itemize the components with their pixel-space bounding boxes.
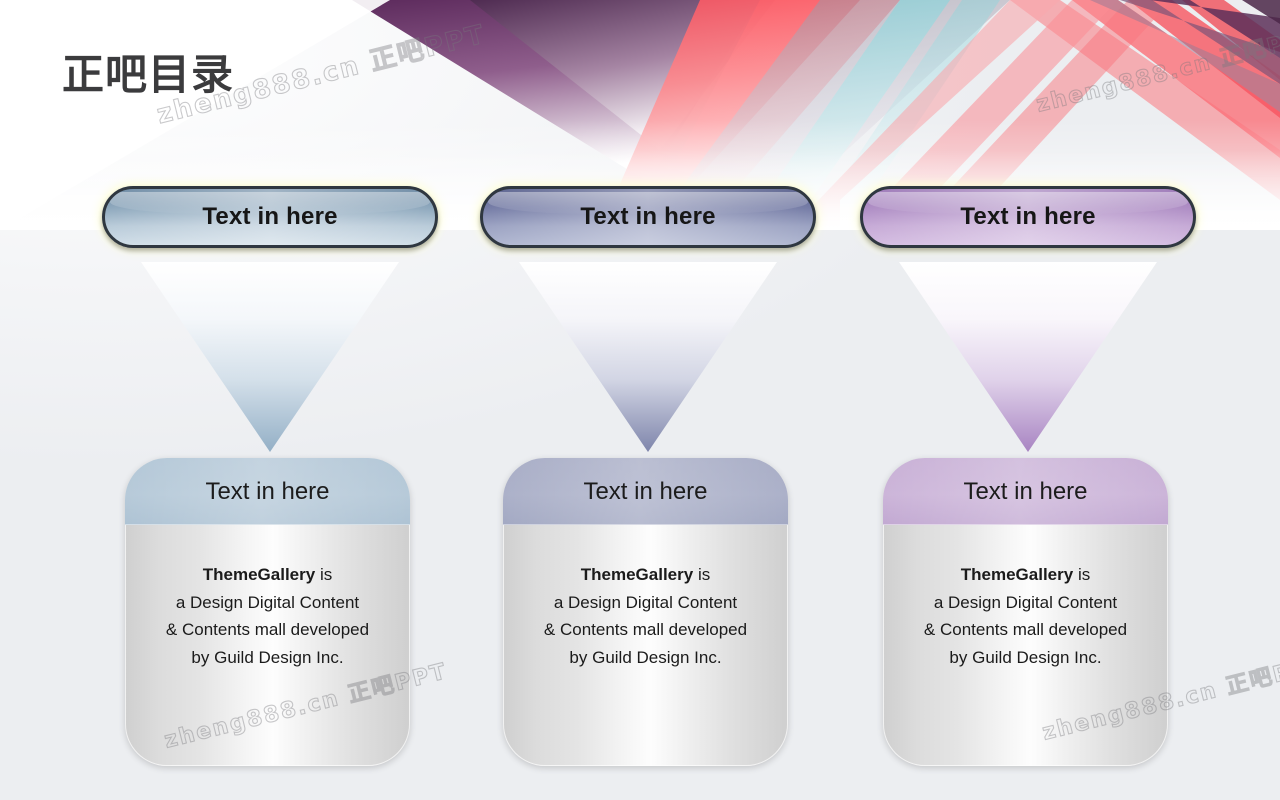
body-line: a Design Digital Content — [883, 589, 1168, 617]
body-line: ThemeGallery is — [883, 561, 1168, 589]
body-line: by Guild Design Inc. — [883, 644, 1168, 672]
presentation-slide: 正吧目录 Text in here Text in here — [0, 0, 1280, 800]
step-pill-button-1[interactable]: Text in here — [102, 186, 438, 248]
body-line: & Contents mall developed — [503, 616, 788, 644]
step-pill-label: Text in here — [960, 203, 1095, 231]
diagram-column: Text in here Text in here — [858, 0, 1198, 800]
info-card-header-label: Text in here — [205, 478, 329, 506]
info-card-body-2: ThemeGallery is a Design Digital Content… — [503, 525, 788, 671]
info-card-header-1: Text in here — [125, 458, 410, 525]
info-card-body-3: ThemeGallery is a Design Digital Content… — [883, 525, 1168, 671]
info-card-2[interactable]: Text in here ThemeGallery is a Design Di… — [503, 458, 788, 766]
info-card-header-3: Text in here — [883, 458, 1168, 525]
funnel-arrow-3 — [899, 262, 1157, 452]
step-pill-label: Text in here — [580, 203, 715, 231]
info-card-header-label: Text in here — [583, 478, 707, 506]
info-card-body-1: ThemeGallery is a Design Digital Content… — [125, 525, 410, 671]
funnel-arrow-2 — [519, 262, 777, 452]
step-pill-label: Text in here — [202, 203, 337, 231]
body-line: ThemeGallery is — [503, 561, 788, 589]
diagram-column: Text in here Text in here — [100, 0, 440, 800]
body-line: a Design Digital Content — [125, 589, 410, 617]
step-pill-button-2[interactable]: Text in here — [480, 186, 816, 248]
body-line: & Contents mall developed — [125, 616, 410, 644]
info-card-1[interactable]: Text in here ThemeGallery is a Design Di… — [125, 458, 410, 766]
body-line: & Contents mall developed — [883, 616, 1168, 644]
info-card-header-2: Text in here — [503, 458, 788, 525]
funnel-arrow-1 — [141, 262, 399, 452]
body-line: ThemeGallery is — [125, 561, 410, 589]
diagram-column: Text in here Text in here — [478, 0, 818, 800]
body-line: by Guild Design Inc. — [125, 644, 410, 672]
info-card-3[interactable]: Text in here ThemeGallery is a Design Di… — [883, 458, 1168, 766]
body-line: a Design Digital Content — [503, 589, 788, 617]
info-card-header-label: Text in here — [963, 478, 1087, 506]
page-title: 正吧目录 — [62, 52, 234, 98]
body-line: by Guild Design Inc. — [503, 644, 788, 672]
step-pill-button-3[interactable]: Text in here — [860, 186, 1196, 248]
